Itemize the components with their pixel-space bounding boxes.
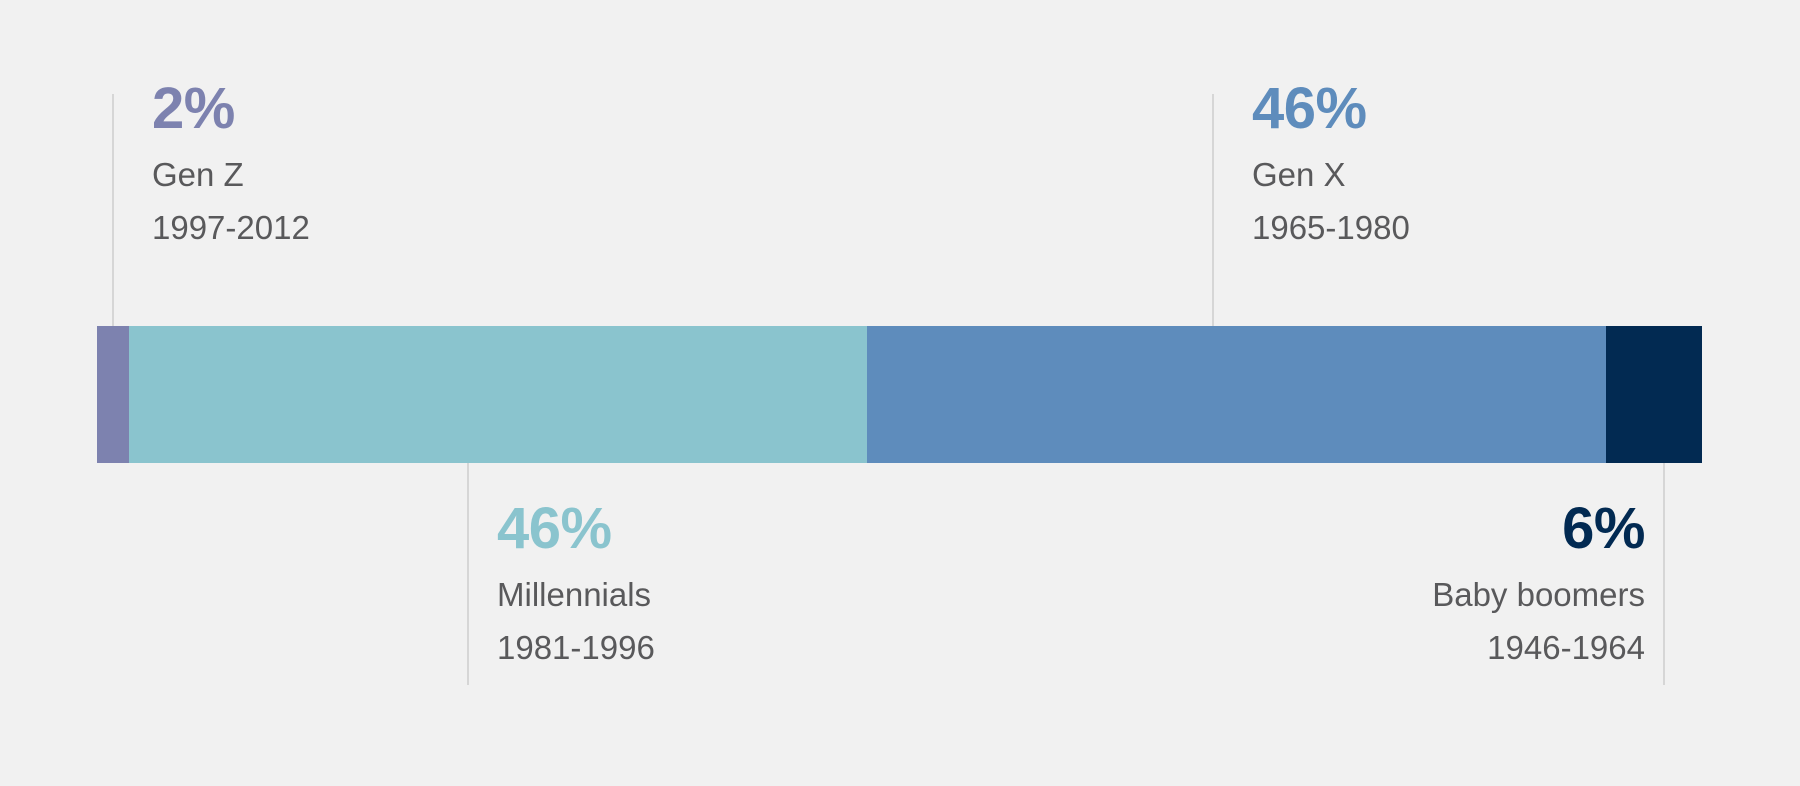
generation-share-chart: 2% Gen Z 1997-2012 46% Gen X 1965-1980 4… — [0, 0, 1800, 786]
gen-z-percent: 2% — [152, 80, 310, 138]
millennials-year-range: 1981-1996 — [497, 631, 655, 664]
callout-millennials: 46% Millennials 1981-1996 — [497, 500, 655, 664]
bar-segment-gen-x — [867, 326, 1605, 463]
callout-baby-boomers: 6% Baby boomers 1946-1964 — [1432, 500, 1645, 664]
gen-x-year-range: 1965-1980 — [1252, 211, 1410, 244]
millennials-group-label: Millennials — [497, 578, 655, 611]
baby-boomers-group-label: Baby boomers — [1432, 578, 1645, 611]
bar-segment-millennials — [129, 326, 867, 463]
leader-line-millennials — [467, 463, 469, 685]
callout-gen-x: 46% Gen X 1965-1980 — [1252, 80, 1410, 244]
millennials-percent: 46% — [497, 500, 655, 558]
stacked-bar — [97, 326, 1702, 463]
leader-line-gen-x — [1212, 94, 1214, 326]
baby-boomers-percent: 6% — [1432, 500, 1645, 558]
leader-line-gen-z — [112, 94, 114, 326]
gen-x-group-label: Gen X — [1252, 158, 1410, 191]
leader-line-baby-boomers — [1663, 463, 1665, 685]
gen-z-year-range: 1997-2012 — [152, 211, 310, 244]
bar-segment-gen-z — [97, 326, 129, 463]
gen-z-group-label: Gen Z — [152, 158, 310, 191]
callout-gen-z: 2% Gen Z 1997-2012 — [152, 80, 310, 244]
bar-segment-baby-boomers — [1606, 326, 1702, 463]
gen-x-percent: 46% — [1252, 80, 1410, 138]
baby-boomers-year-range: 1946-1964 — [1432, 631, 1645, 664]
